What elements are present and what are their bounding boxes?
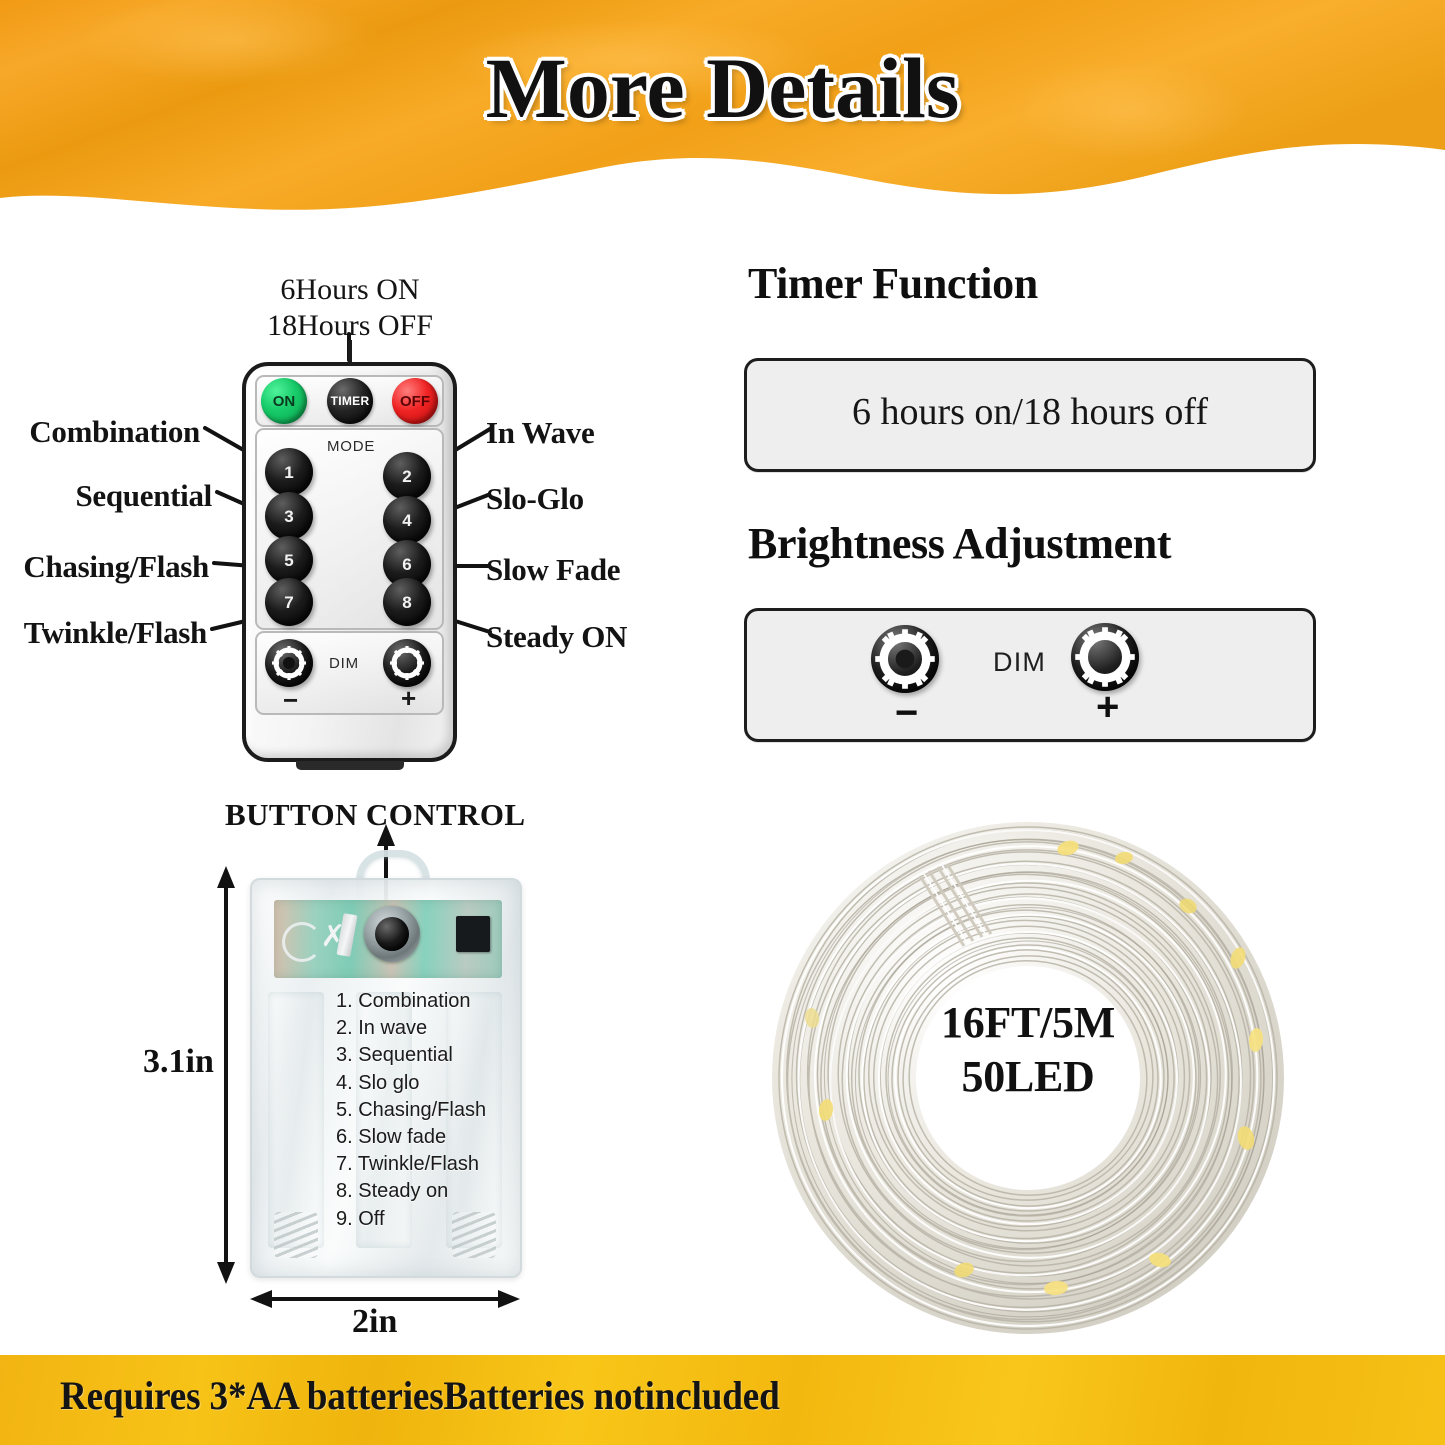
- callout-steady-on: Steady ON: [486, 619, 627, 655]
- remote-mode-panel: MODE 1 2 3 4 5 6 7 8: [255, 428, 444, 630]
- brightness-info-box: DIM − +: [744, 608, 1316, 742]
- callout-in-wave: In Wave: [486, 415, 594, 451]
- remote-mode-button-3[interactable]: 3: [265, 492, 313, 540]
- mode-list-item: 3. Sequential: [336, 1042, 486, 1069]
- remote-power-panel: ON TIMER OFF: [255, 375, 444, 427]
- remote-mode-button-5[interactable]: 5: [265, 536, 313, 584]
- battery-box-shell: ✗ 1. Combination 2. In wave 3. Sequentia…: [250, 878, 522, 1278]
- battery-box-control-button[interactable]: [364, 906, 420, 962]
- callout-sequential: Sequential: [0, 478, 212, 514]
- remote-timer-button[interactable]: TIMER: [327, 378, 373, 424]
- callout-slow-fade: Slow Fade: [486, 552, 620, 588]
- brightness-minus-knob[interactable]: [871, 625, 939, 693]
- remote-on-button[interactable]: ON: [261, 378, 307, 424]
- callout-slo-glo: Slo-Glo: [486, 481, 584, 517]
- button-control-caption: BUTTON CONTROL: [225, 797, 525, 833]
- timer-note-line1: 6Hours ON: [230, 272, 470, 308]
- callout-twinkle-flash: Twinkle/Flash: [0, 615, 207, 651]
- gear-icon: [387, 643, 427, 683]
- page-title: More Details: [0, 38, 1445, 138]
- gear-icon: [1071, 623, 1139, 691]
- mode-list-item: 2. In wave: [336, 1015, 486, 1042]
- remote-dim-panel: DIM − +: [255, 631, 444, 715]
- battery-slot: [268, 992, 324, 1248]
- ic-chip: [456, 916, 490, 952]
- mode-list-item: 9. Off: [336, 1206, 486, 1233]
- brightness-adjustment-heading: Brightness Adjustment: [748, 518, 1171, 569]
- brightness-plus-knob[interactable]: [1071, 623, 1139, 691]
- inductor-coil-icon: [282, 922, 322, 962]
- remote-mode-button-1[interactable]: 1: [265, 448, 313, 496]
- mode-list-item: 7. Twinkle/Flash: [336, 1151, 486, 1178]
- mode-label: MODE: [327, 438, 375, 455]
- brightness-dim-label: DIM: [993, 647, 1046, 678]
- brightness-plus-sign: +: [1096, 687, 1119, 727]
- remote-dim-minus-knob[interactable]: [265, 639, 313, 687]
- gear-icon: [269, 643, 309, 683]
- dim-plus-sign: +: [401, 685, 416, 711]
- timer-note: 6Hours ON 18Hours OFF: [230, 272, 470, 344]
- remote-mode-button-4[interactable]: 4: [383, 496, 431, 544]
- coil-illustration: [768, 818, 1288, 1338]
- remote-mode-button-2[interactable]: 2: [383, 452, 431, 500]
- brightness-minus-sign: −: [895, 693, 918, 733]
- dim-label: DIM: [329, 655, 359, 672]
- timer-info-text: 6 hours on/18 hours off: [747, 390, 1313, 434]
- timer-function-heading: Timer Function: [748, 258, 1038, 309]
- gear-icon: [871, 625, 939, 693]
- mode-list-item: 6. Slow fade: [336, 1124, 486, 1151]
- remote-off-button[interactable]: OFF: [392, 378, 438, 424]
- mode-list-item: 4. Slo glo: [336, 1070, 486, 1097]
- timer-note-line2: 18Hours OFF: [230, 308, 470, 344]
- header-banner: More Details: [0, 0, 1445, 215]
- mode-list-item: 5. Chasing/Flash: [336, 1097, 486, 1124]
- battery-spring: [274, 1212, 318, 1258]
- callout-chasing-flash: Chasing/Flash: [0, 549, 209, 585]
- remote-mode-button-7[interactable]: 7: [265, 578, 313, 626]
- remote-dim-plus-knob[interactable]: [383, 639, 431, 687]
- battery-height-label: 3.1in: [143, 1043, 214, 1081]
- led-wire-coil: 16FT/5M 50LED: [768, 818, 1288, 1338]
- dim-minus-sign: −: [283, 687, 298, 713]
- mode-list-item: 8. Steady on: [336, 1178, 486, 1205]
- battery-width-label: 2in: [352, 1303, 397, 1341]
- remote-mode-button-8[interactable]: 8: [383, 578, 431, 626]
- footer-note: Requires 3*AA batteriesBatteries notincl…: [60, 1372, 780, 1419]
- battery-box: ✗ 1. Combination 2. In wave 3. Sequentia…: [250, 878, 522, 1278]
- callout-combination: Combination: [0, 414, 200, 450]
- remote-ir-emitter: [348, 340, 352, 362]
- battery-box-mode-list: 1. Combination 2. In wave 3. Sequential …: [336, 988, 486, 1233]
- remote-battery-cover: [296, 761, 404, 770]
- timer-info-box: 6 hours on/18 hours off: [744, 358, 1316, 472]
- mode-list-item: 1. Combination: [336, 988, 486, 1015]
- remote-control[interactable]: ON TIMER OFF MODE 1 2 3 4 5 6 7 8: [242, 362, 457, 762]
